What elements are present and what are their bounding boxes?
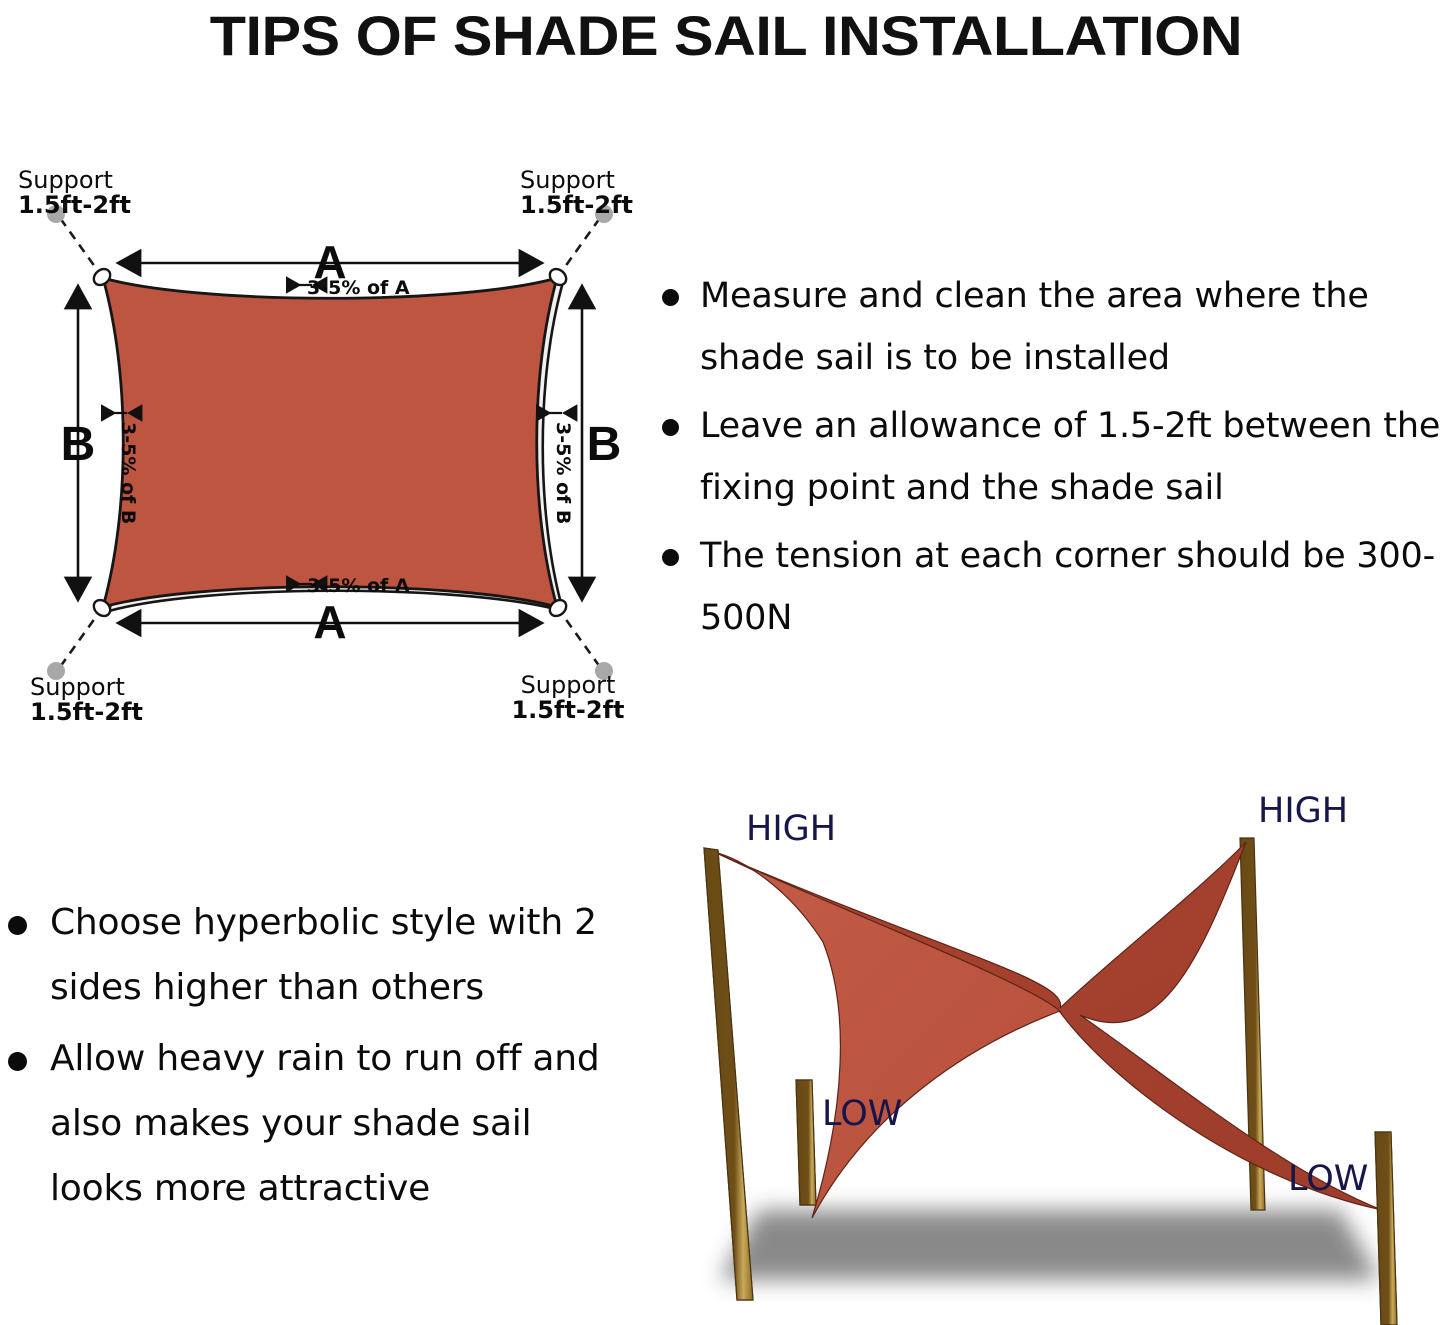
- rectangular-sail-diagram: A 3-5% of A A 3-5% of A B 3-5% of B B: [0, 160, 660, 740]
- support-label-top-left-line2: 1.5ft-2ft: [18, 191, 131, 219]
- list-item: Allow heavy rain to run off and also mak…: [0, 1026, 630, 1221]
- corner-label-high-right: HIGH: [1258, 791, 1348, 831]
- support-label-bottom-left-line2: 1.5ft-2ft: [30, 698, 143, 726]
- support-label-bottom-right-line2: 1.5ft-2ft: [511, 696, 624, 724]
- sail-fabric-shape: [103, 278, 557, 607]
- post-high-left-front: [704, 848, 753, 1300]
- label-height-right: B: [587, 418, 622, 471]
- ground-shadow: [720, 1210, 1380, 1280]
- support-label-bottom-right-line1: Support: [521, 671, 616, 699]
- support-label-top-right-line1: Support: [520, 166, 615, 194]
- label-curvature-bottom: 3-5% of A: [307, 575, 410, 597]
- list-item: Leave an allowance of 1.5-2ft between th…: [648, 395, 1452, 519]
- corner-label-low-left: LOW: [822, 1094, 902, 1134]
- tether-top-left: [60, 218, 103, 278]
- support-label-top-right: Support 1.5ft-2ft: [520, 166, 633, 219]
- list-item: The tension at each corner should be 300…: [648, 525, 1452, 649]
- dimension-width-top: A 3-5% of A: [118, 236, 542, 299]
- sail-front-left-lobe: [714, 852, 1060, 1218]
- hyperbolic-tips-list: Choose hyperbolic style with 2 sides hig…: [0, 890, 630, 1221]
- corner-label-high-left: HIGH: [746, 809, 836, 849]
- support-label-bottom-left: Support 1.5ft-2ft: [30, 673, 143, 726]
- tether-bottom-left: [60, 607, 103, 667]
- list-item: Measure and clean the area where the sha…: [648, 265, 1452, 389]
- label-curvature-top: 3-5% of A: [307, 277, 410, 299]
- label-height-left: B: [61, 418, 96, 471]
- post-low-left-front: [796, 1080, 816, 1205]
- hyperbolic-style-tips-list: Choose hyperbolic style with 2 sides hig…: [0, 890, 630, 1230]
- rect-diagram-svg: A 3-5% of A A 3-5% of A B 3-5% of B B: [0, 160, 660, 740]
- support-label-bottom-right: Support 1.5ft-2ft: [511, 671, 624, 724]
- label-curvature-left: 3-5% of B: [117, 422, 139, 524]
- label-curvature-right: 3-5% of B: [552, 422, 574, 524]
- corner-label-low-right: LOW: [1288, 1159, 1368, 1199]
- support-label-top-left: Support 1.5ft-2ft: [18, 166, 131, 219]
- post-low-right-front: [1375, 1132, 1397, 1325]
- support-label-top-left-line1: Support: [18, 166, 113, 194]
- page-title: TIPS OF SHADE SAIL INSTALLATION: [210, 3, 1242, 68]
- installation-tips-list: Measure and clean the area where the sha…: [648, 265, 1452, 665]
- tether-bottom-right: [557, 607, 600, 667]
- label-width-bottom: A: [313, 596, 346, 648]
- tips-list: Measure and clean the area where the sha…: [648, 265, 1452, 649]
- title-bar: TIPS OF SHADE SAIL INSTALLATION: [0, 0, 1452, 70]
- support-label-bottom-left-line1: Support: [30, 673, 125, 701]
- support-label-top-right-line2: 1.5ft-2ft: [520, 191, 633, 219]
- tether-top-right: [557, 218, 600, 278]
- list-item: Choose hyperbolic style with 2 sides hig…: [0, 890, 630, 1020]
- hyperbolic-diagram-svg: HIGH HIGH LOW LOW: [640, 780, 1452, 1325]
- hyperbolic-sail-diagram: HIGH HIGH LOW LOW: [640, 780, 1452, 1325]
